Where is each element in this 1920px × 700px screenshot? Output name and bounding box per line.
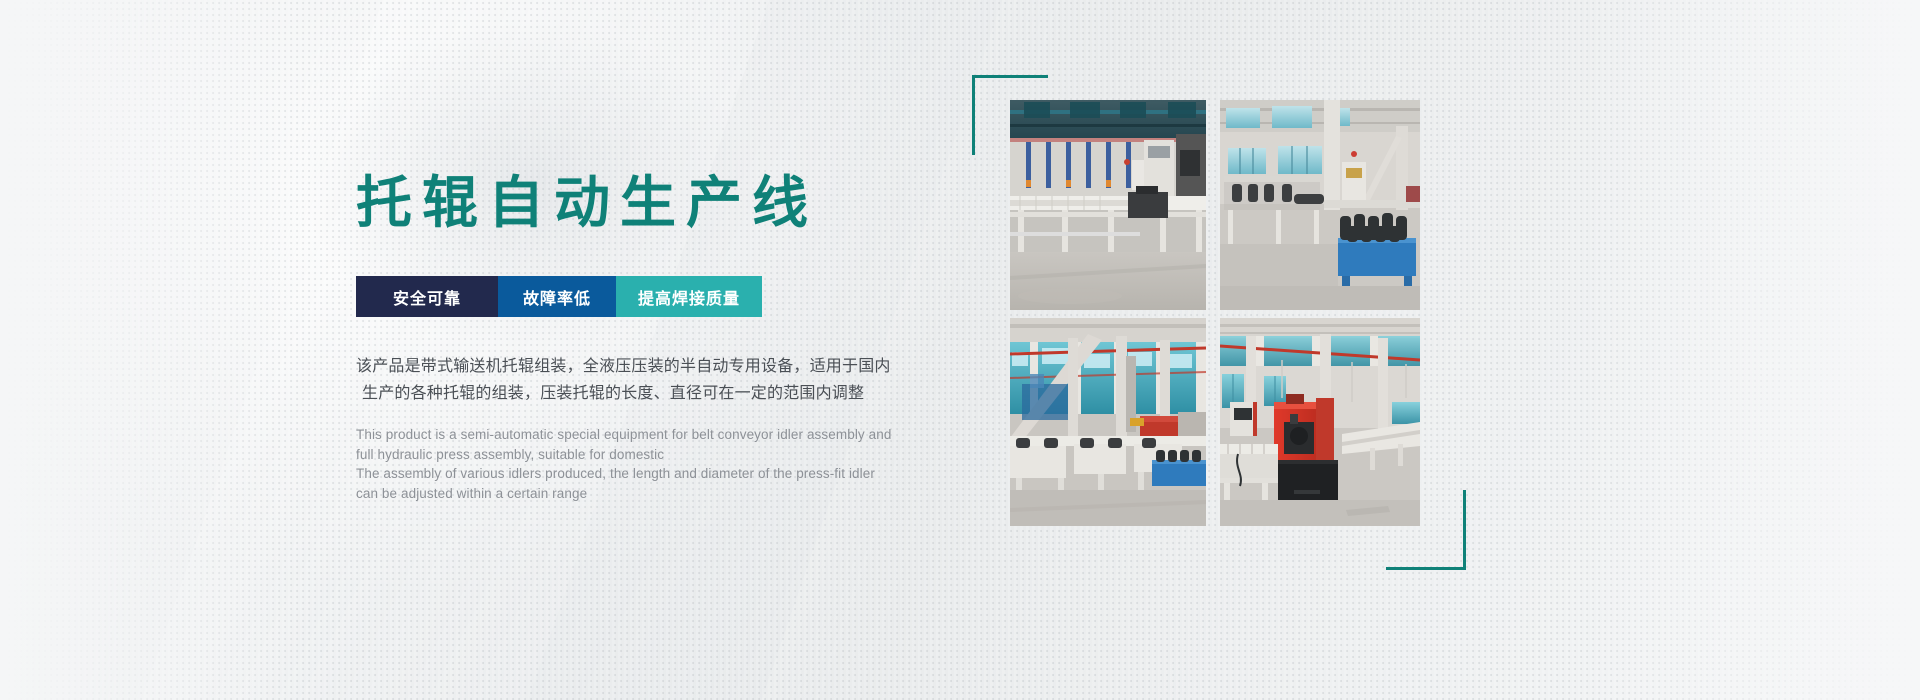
feature-tag-row: 安全可靠 故障率低 提高焊接质量 — [356, 276, 762, 317]
description-chinese-line-2: 生产的各种托辊的组装，压装托辊的长度、直径可在一定的范围内调整 — [356, 380, 912, 407]
description-english: This product is a semi-automatic special… — [356, 425, 916, 503]
description-chinese: 该产品是带式输送机托辊组装，全液压压装的半自动专用设备，适用于国内 生产的各种托… — [356, 353, 912, 407]
photo-roller-storage[interactable] — [1220, 100, 1420, 310]
photo-gallery — [1010, 100, 1420, 532]
photo-red-press-machine[interactable] — [1220, 318, 1420, 526]
description-english-line-3: The assembly of various idlers produced,… — [356, 464, 916, 484]
banner-text-column: 托辊自动生产线 安全可靠 故障率低 提高焊接质量 该产品是带式输送机托辊组装，全… — [356, 0, 976, 700]
feature-tag-weld-quality[interactable]: 提高焊接质量 — [616, 276, 762, 317]
description-english-line-2: full hydraulic press assembly, suitable … — [356, 445, 916, 465]
background-right-fade — [1580, 0, 1920, 700]
feature-tag-label: 安全可靠 — [393, 285, 461, 309]
description-english-line-1: This product is a semi-automatic special… — [356, 425, 916, 445]
photo-workshop-overview[interactable] — [1010, 318, 1206, 526]
description-chinese-line-1: 该产品是带式输送机托辊组装，全液压压装的半自动专用设备，适用于国内 — [356, 353, 912, 380]
background-left-fade — [0, 0, 300, 700]
feature-tag-label: 故障率低 — [523, 285, 591, 309]
photo-grid — [1010, 100, 1420, 532]
photo-conveyor-line[interactable] — [1010, 100, 1206, 310]
feature-tag-label: 提高焊接质量 — [638, 285, 740, 309]
feature-tag-safety[interactable]: 安全可靠 — [356, 276, 498, 317]
page-title: 托辊自动生产线 — [356, 175, 818, 231]
feature-tag-failure-rate[interactable]: 故障率低 — [498, 276, 616, 317]
description-english-line-4: can be adjusted within a certain range — [356, 484, 916, 504]
